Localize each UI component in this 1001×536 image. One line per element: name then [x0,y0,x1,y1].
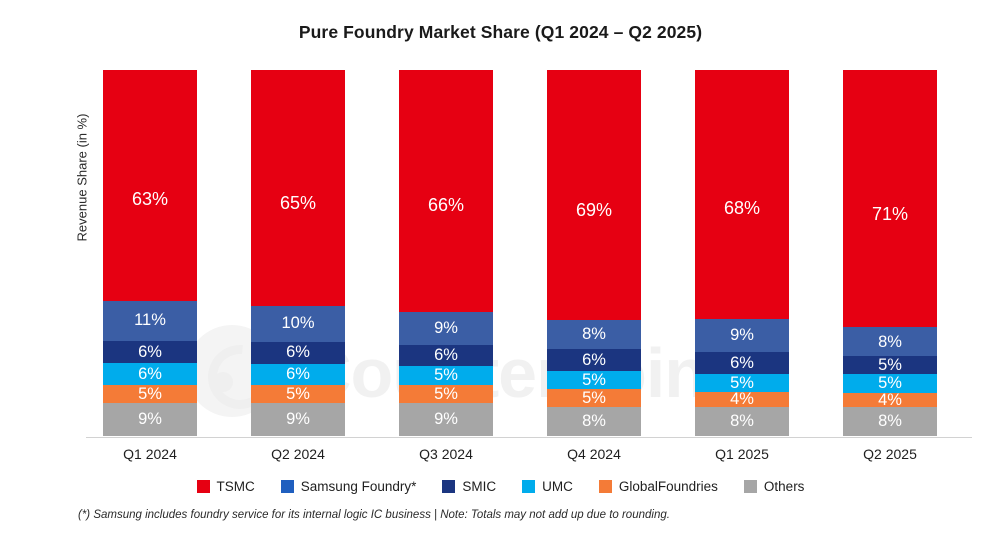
bar-group[interactable]: 71%8%5%5%4%8% [843,70,937,436]
bar-segment[interactable]: 5% [547,371,641,389]
bar-segment[interactable]: 66% [399,70,493,312]
bar-segment[interactable]: 9% [399,403,493,436]
bar-segment[interactable]: 4% [843,393,937,407]
bar-segment-label: 6% [286,366,310,383]
bar-segment-label: 5% [582,372,606,389]
bar-segment-label: 8% [582,326,606,343]
bar-segment[interactable]: 8% [843,407,937,436]
bar-segment-label: 9% [730,327,754,344]
bar-segment[interactable]: 5% [547,389,641,407]
plot-area: Counterpoint 63%11%6%6%5%9%65%10%6%6%5%9… [86,70,971,436]
bar-segment-label: 6% [138,366,162,383]
bar-group[interactable]: 69%8%6%5%5%8% [547,70,641,436]
bar-segment-label: 68% [724,199,760,217]
bar-segment[interactable]: 5% [843,374,937,392]
bar-segment-label: 11% [134,312,166,329]
bar-segment[interactable]: 63% [103,70,197,301]
legend-item[interactable]: UMC [522,479,573,494]
x-axis-tick-labels: Q1 2024Q2 2024Q3 2024Q4 2024Q1 2025Q2 20… [86,446,971,468]
bar-segment[interactable]: 8% [547,320,641,349]
legend-swatch-icon [442,480,455,493]
bar-group[interactable]: 63%11%6%6%5%9% [103,70,197,436]
bar-segment[interactable]: 5% [103,385,197,403]
legend-label: UMC [542,479,573,494]
legend-swatch-icon [281,480,294,493]
bar-segment[interactable]: 8% [547,407,641,436]
bar-segment[interactable]: 5% [251,385,345,403]
bar-segment-label: 71% [872,205,908,223]
x-axis-label: Q2 2025 [843,446,937,462]
stacked-bars: 63%11%6%6%5%9%65%10%6%6%5%9%66%9%6%5%5%9… [86,70,971,436]
bar-group[interactable]: 66%9%6%5%5%9% [399,70,493,436]
legend-item[interactable]: GlobalFoundries [599,479,718,494]
bar-segment-label: 8% [878,413,902,430]
bar-segment-label: 10% [281,315,314,332]
bar-group[interactable]: 65%10%6%6%5%9% [251,70,345,436]
legend-item[interactable]: TSMC [197,479,255,494]
bar-segment[interactable]: 71% [843,70,937,327]
legend-label: TSMC [217,479,255,494]
bar-segment-label: 5% [582,390,606,407]
bar-segment-label: 6% [730,355,754,372]
bar-segment[interactable]: 8% [695,407,789,436]
chart-title: Pure Foundry Market Share (Q1 2024 – Q2 … [0,22,1001,43]
bar-segment[interactable]: 9% [695,319,789,352]
bar-segment[interactable]: 9% [251,403,345,436]
bar-segment[interactable]: 6% [695,352,789,374]
bar-segment[interactable]: 6% [251,364,345,386]
bar-segment-label: 5% [138,386,162,403]
bar-segment-label: 9% [138,411,162,428]
x-axis-label: Q1 2025 [695,446,789,462]
bar-segment[interactable]: 5% [399,385,493,403]
bar-segment-label: 4% [878,393,902,407]
bar-segment[interactable]: 5% [399,366,493,384]
x-axis-label: Q1 2024 [103,446,197,462]
bar-segment[interactable]: 6% [103,363,197,385]
bar-segment-label: 6% [434,347,458,364]
bar-segment-label: 8% [582,413,606,430]
bar-segment-label: 5% [730,375,754,392]
legend-item[interactable]: SMIC [442,479,496,494]
legend-item[interactable]: Samsung Foundry* [281,479,417,494]
bar-segment-label: 8% [878,334,902,351]
bar-segment-label: 9% [434,320,458,337]
bar-group[interactable]: 68%9%6%5%4%8% [695,70,789,436]
legend-swatch-icon [522,480,535,493]
bar-segment-label: 6% [582,352,606,369]
bar-segment[interactable]: 5% [843,356,937,374]
bar-segment-label: 63% [132,190,168,208]
chart-legend: TSMCSamsung Foundry*SMICUMCGlobalFoundri… [0,479,1001,494]
bar-segment-label: 5% [286,386,310,403]
x-axis-line [86,437,972,438]
bar-segment-label: 9% [286,411,310,428]
x-axis-label: Q2 2024 [251,446,345,462]
bar-segment[interactable]: 69% [547,70,641,320]
legend-label: SMIC [462,479,496,494]
bar-segment-label: 4% [730,392,754,407]
bar-segment[interactable]: 6% [251,342,345,364]
bar-segment[interactable]: 11% [103,301,197,341]
x-axis-label: Q3 2024 [399,446,493,462]
x-axis-label: Q4 2024 [547,446,641,462]
legend-swatch-icon [599,480,612,493]
chart-footnote: (*) Samsung includes foundry service for… [78,509,670,521]
bar-segment-label: 5% [878,357,902,374]
bar-segment-label: 69% [576,201,612,219]
legend-swatch-icon [744,480,757,493]
legend-label: Samsung Foundry* [301,479,417,494]
bar-segment[interactable]: 5% [695,374,789,392]
legend-label: Others [764,479,805,494]
bar-segment[interactable]: 9% [103,403,197,436]
bar-segment-label: 6% [286,344,310,361]
bar-segment[interactable]: 8% [843,327,937,356]
legend-swatch-icon [197,480,210,493]
bar-segment-label: 5% [434,386,458,403]
bar-segment-label: 8% [730,413,754,430]
legend-item[interactable]: Others [744,479,805,494]
bar-segment-label: 5% [434,367,458,384]
legend-label: GlobalFoundries [619,479,718,494]
bar-segment[interactable]: 6% [103,341,197,363]
bar-segment[interactable]: 4% [695,392,789,407]
bar-segment[interactable]: 6% [399,345,493,367]
bar-segment[interactable]: 6% [547,349,641,371]
bar-segment-label: 9% [434,411,458,428]
bar-segment[interactable]: 68% [695,70,789,319]
bar-segment-label: 5% [878,375,902,392]
chart-canvas: Pure Foundry Market Share (Q1 2024 – Q2 … [0,0,1001,536]
bar-segment-label: 66% [428,196,464,214]
bar-segment[interactable]: 10% [251,306,345,342]
bar-segment-label: 6% [138,344,162,361]
bar-segment-label: 65% [280,194,316,212]
bar-segment[interactable]: 65% [251,70,345,306]
bar-segment[interactable]: 9% [399,312,493,345]
